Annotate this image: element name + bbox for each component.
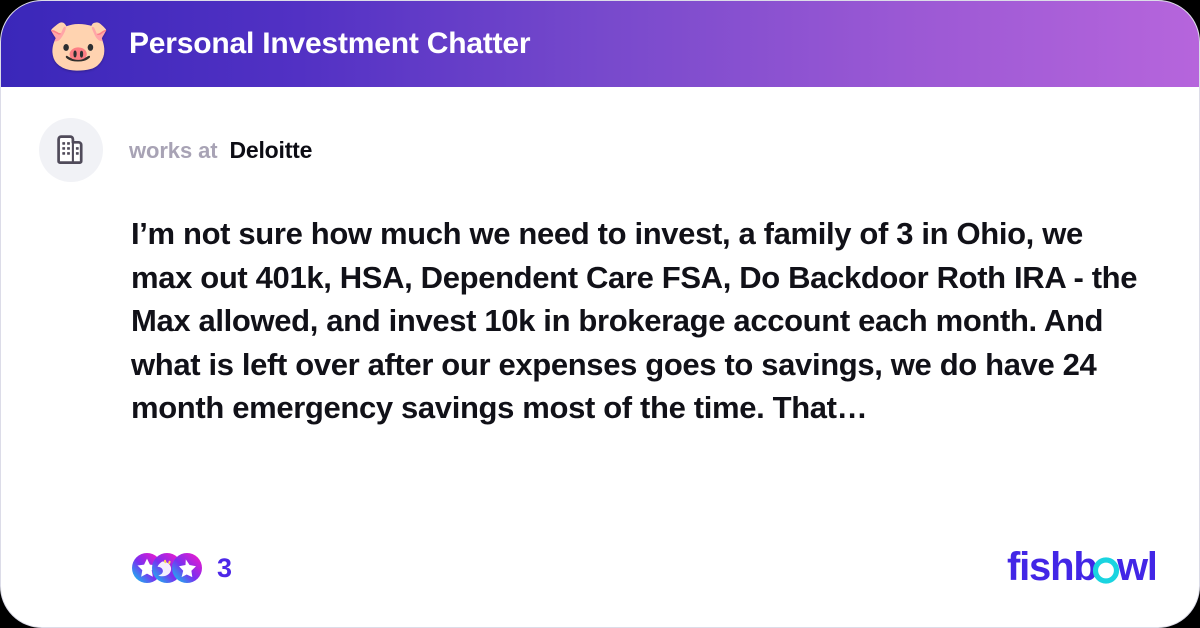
svg-text:wl: wl (1116, 545, 1155, 589)
page-background: 🐷 Personal Investment Chatter (0, 0, 1200, 628)
company-name[interactable]: Deloitte (229, 137, 312, 164)
star-reaction-icon[interactable] (171, 552, 203, 584)
author-meta: works at Deloitte (129, 137, 312, 164)
channel-header: 🐷 Personal Investment Chatter (1, 1, 1199, 87)
building-icon (54, 133, 88, 167)
post-text: I’m not sure how much we need to invest,… (131, 212, 1143, 430)
avatar (39, 118, 103, 182)
post-body: works at Deloitte I’m not sure how much … (1, 87, 1199, 628)
reaction-count: 3 (217, 553, 232, 584)
post-footer: 3 fishb wl (1, 545, 1199, 591)
fishbowl-logo: fishb wl (1007, 545, 1155, 591)
svg-text:fishb: fishb (1007, 545, 1097, 589)
reactions-group[interactable]: 3 (131, 552, 232, 584)
reaction-icon-stack[interactable] (131, 552, 203, 584)
piggy-bank-emoji: 🐷 (43, 9, 115, 81)
works-at-label: works at (129, 138, 217, 164)
post-card: 🐷 Personal Investment Chatter (0, 0, 1200, 628)
fishbowl-wordmark-icon: fishb wl (1007, 545, 1155, 591)
channel-title: Personal Investment Chatter (129, 27, 530, 61)
author-row: works at Deloitte (1, 87, 1199, 182)
